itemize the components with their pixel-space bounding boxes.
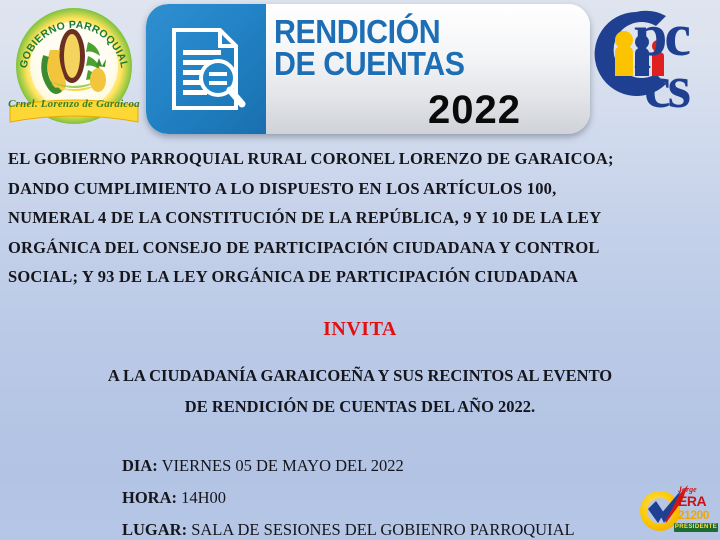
title-line-1: RENDICIÓN bbox=[274, 16, 559, 48]
campaign-logo: Jorge ERA 21200 PRESIDENTE bbox=[636, 483, 718, 537]
seal-arc-text: GOBIERNO PARROQUIAL bbox=[18, 19, 131, 70]
document-magnifier-icon bbox=[168, 26, 246, 112]
invitation-line: DE RENDICIÓN DE CUENTAS DEL AÑO 2022. bbox=[0, 391, 720, 422]
parish-crest-icon: GOBIERNO PARROQUIAL Crnel. Lorenzo de Ga… bbox=[6, 2, 142, 134]
cpccs-text-cs: cs bbox=[644, 60, 688, 114]
detail-value-hora: 14H00 bbox=[181, 488, 226, 507]
title-line-2: DE CUENTAS bbox=[274, 48, 559, 80]
paragraph-line: NUMERAL 4 DE LA CONSTITUCIÓN DE LA REPÚB… bbox=[8, 203, 712, 233]
detail-row-hora: HORA: 14H00 bbox=[122, 482, 682, 514]
title-plaque: RENDICIÓN DE CUENTAS 2022 bbox=[146, 4, 590, 134]
title-year: 2022 bbox=[428, 90, 521, 130]
plaque-blue-panel bbox=[146, 4, 266, 134]
detail-value-lugar: SALA DE SESIONES DEL GOBIENRO PARROQUIAL bbox=[191, 520, 574, 539]
detail-row-lugar: LUGAR: SALA DE SESIONES DEL GOBIENRO PAR… bbox=[122, 514, 682, 540]
svg-text:GOBIERNO PARROQUIAL: GOBIERNO PARROQUIAL bbox=[18, 19, 131, 70]
detail-row-dia: DIA: VIERNES 05 DE MAYO DEL 2022 bbox=[122, 450, 682, 482]
cpccs-family-icon: pc cs bbox=[588, 2, 718, 136]
invitation-poster: GOBIERNO PARROQUIAL Crnel. Lorenzo de Ga… bbox=[0, 0, 720, 540]
detail-value-dia: VIERNES 05 DE MAYO DEL 2022 bbox=[162, 456, 404, 475]
detail-label-lugar: LUGAR: bbox=[122, 520, 187, 539]
paragraph-line: EL GOBIERNO PARROQUIAL RURAL CORONEL LOR… bbox=[8, 144, 712, 174]
poster-header: GOBIERNO PARROQUIAL Crnel. Lorenzo de Ga… bbox=[0, 0, 720, 140]
invita-heading: INVITA bbox=[0, 318, 720, 341]
plaque-title: RENDICIÓN DE CUENTAS bbox=[274, 16, 584, 80]
campaign-surname: ERA bbox=[678, 495, 706, 508]
campaign-role: PRESIDENTE bbox=[674, 523, 718, 532]
legal-paragraph: EL GOBIERNO PARROQUIAL RURAL CORONEL LOR… bbox=[8, 144, 712, 292]
paragraph-line: DANDO CUMPLIMIENTO A LO DISPUESTO EN LOS… bbox=[8, 174, 712, 204]
paragraph-line: ORGÁNICA DEL CONSEJO DE PARTICIPACIÓN CI… bbox=[8, 233, 712, 263]
detail-label-dia: DIA: bbox=[122, 456, 158, 475]
event-details: DIA: VIERNES 05 DE MAYO DEL 2022 HORA: 1… bbox=[122, 450, 682, 540]
invitation-line: A LA CIUDADANÍA GARAICOEÑA Y SUS RECINTO… bbox=[0, 360, 720, 391]
invitation-statement: A LA CIUDADANÍA GARAICOEÑA Y SUS RECINTO… bbox=[0, 360, 720, 422]
seal-banner-text: Crnel. Lorenzo de Garaicoa bbox=[6, 98, 142, 110]
campaign-number: 21200 bbox=[678, 509, 709, 521]
paragraph-line: SOCIAL; Y 93 DE LA LEY ORGÁNICA DE PARTI… bbox=[8, 262, 712, 292]
detail-label-hora: HORA: bbox=[122, 488, 177, 507]
